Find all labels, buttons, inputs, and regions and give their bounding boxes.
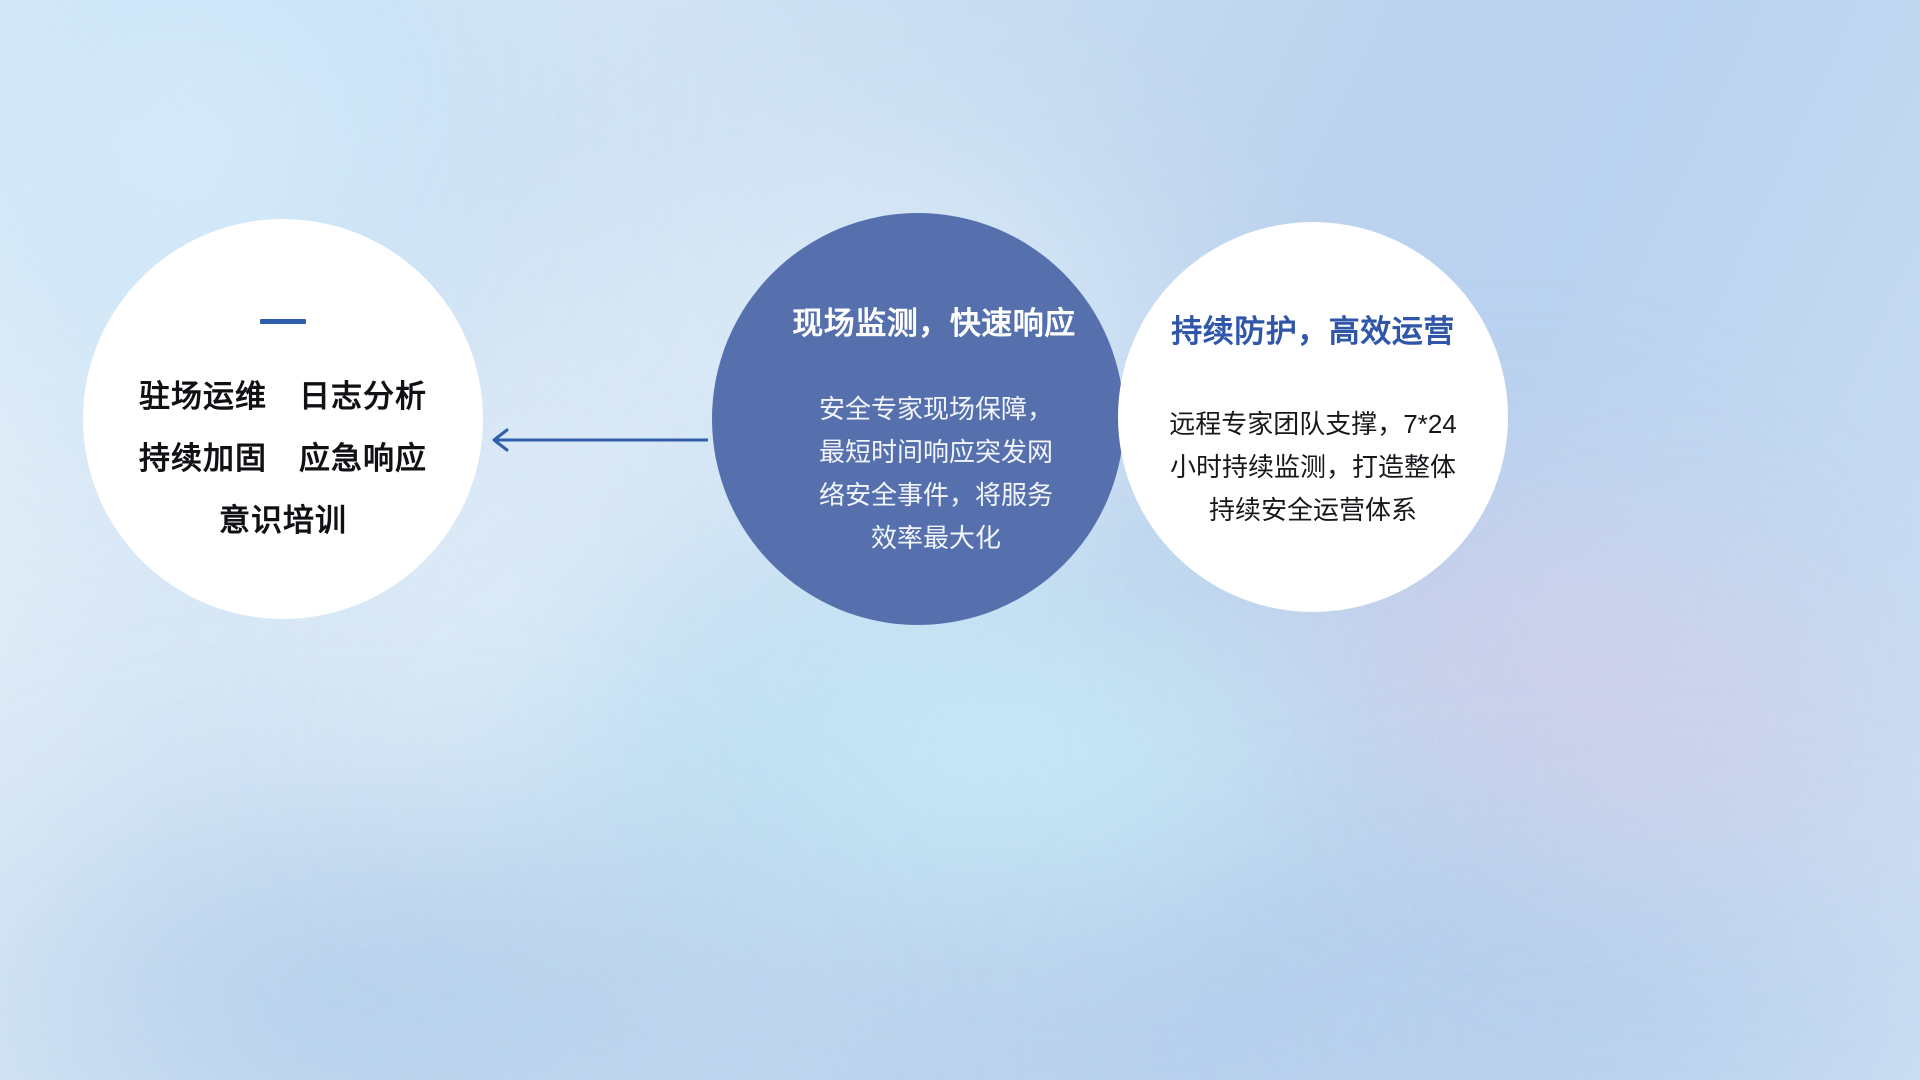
node-heading: 现场监测，快速响应	[760, 298, 1076, 343]
capabilities-list: 驻场运维 日志分析 持续加固 应急响应 意识培训	[139, 366, 427, 552]
body-line: 持续安全运营体系	[1143, 489, 1483, 532]
body-line: 络安全事件，将服务	[804, 474, 1068, 517]
list-item: 意识培训	[139, 490, 427, 552]
arrow-pointing-left	[480, 418, 710, 462]
node-body: 远程专家团队支撑，7*24 小时持续监测，打造整体 持续安全运营体系	[1143, 403, 1483, 532]
list-item: 驻场运维 日志分析	[139, 366, 427, 428]
body-line: 最短时间响应突发网	[804, 431, 1068, 474]
arrow-icon	[480, 418, 710, 462]
node-continuous-protection[interactable]: 持续防护，高效运营 远程专家团队支撑，7*24 小时持续监测，打造整体 持续安全…	[1118, 222, 1508, 612]
node-onsite-monitoring[interactable]: 现场监测，快速响应 安全专家现场保障， 最短时间响应突发网 络安全事件，将服务 …	[712, 213, 1124, 625]
list-item: 持续加固 应急响应	[139, 428, 427, 490]
node-capabilities[interactable]: 驻场运维 日志分析 持续加固 应急响应 意识培训	[83, 219, 483, 619]
node-heading: 持续防护，高效运营	[1171, 306, 1455, 351]
body-line: 远程专家团队支撑，7*24	[1143, 403, 1483, 446]
accent-divider	[260, 319, 306, 324]
body-line: 效率最大化	[804, 517, 1068, 560]
diagram-canvas: 驻场运维 日志分析 持续加固 应急响应 意识培训 现场监测，快速响应 安全专家现…	[0, 0, 1920, 1080]
body-line: 小时持续监测，打造整体	[1143, 446, 1483, 489]
node-body: 安全专家现场保障， 最短时间响应突发网 络安全事件，将服务 效率最大化	[768, 388, 1068, 560]
body-line: 安全专家现场保障，	[804, 388, 1068, 431]
